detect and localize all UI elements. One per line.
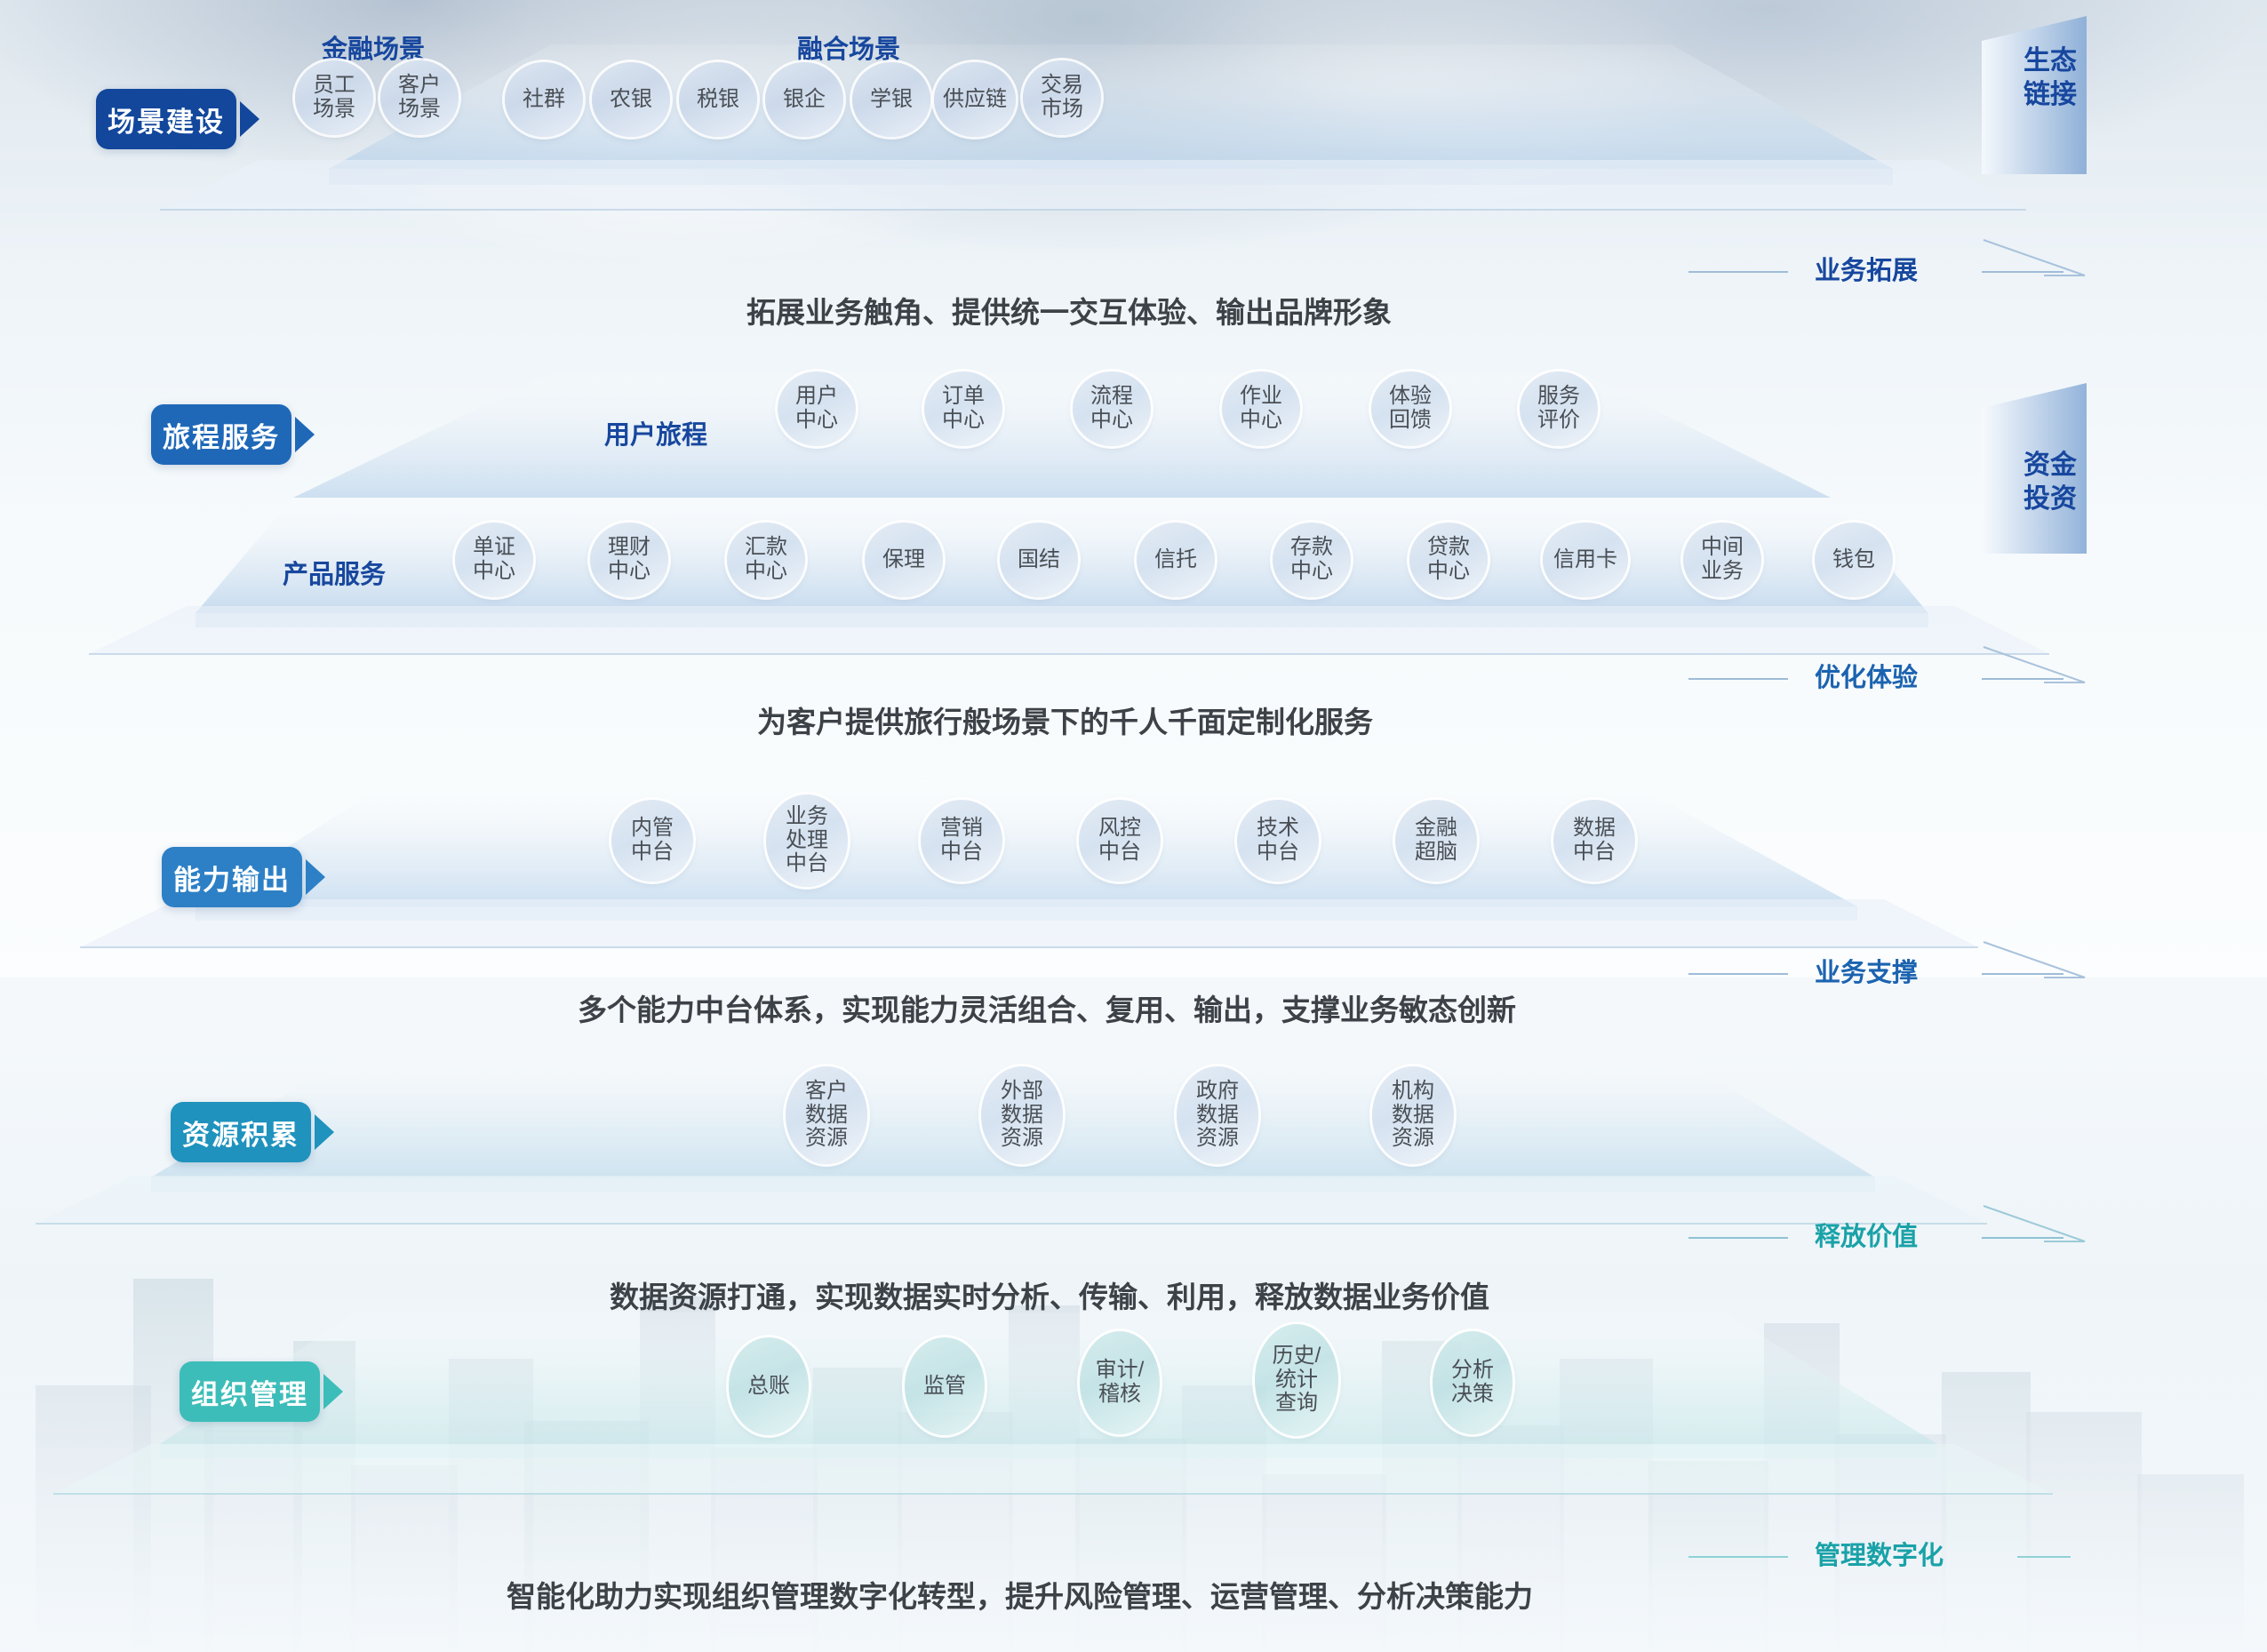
badge-label: 旅程服务 [163,415,280,455]
node-line: 服务 [1537,385,1580,409]
node-agri-bank[interactable]: 农银 [592,62,670,137]
divider-line-right-5 [2017,1556,2071,1558]
node-history-statistics-query[interactable]: 历史/ 统计 查询 [1255,1324,1338,1436]
node-process-center[interactable]: 流程 中心 [1073,371,1151,446]
node-service-evaluation[interactable]: 服务 评价 [1520,371,1598,446]
divider-arrow-icon-4 [1982,1204,2097,1254]
node-line: 处理 [786,829,828,853]
node-line: 营销 [940,817,983,841]
node-financial-brain[interactable]: 金融 超脑 [1395,800,1477,882]
caption-organization-management: 智能化助力实现组织管理数字化转型，提升风险管理、运营管理、分析决策能力 [507,1573,1533,1616]
node-line: 中心 [1090,409,1133,433]
node-risk-control-midend[interactable]: 风控 中台 [1079,800,1161,882]
divider-label-optimize-experience: 优化体验 [1815,657,1918,694]
badge-label: 组织管理 [191,1372,308,1412]
node-line: 审计/ [1096,1359,1145,1383]
node-supervision[interactable]: 监管 [905,1337,985,1435]
divider-label-release-value: 释放价值 [1815,1216,1918,1253]
node-line: 中台 [940,841,983,865]
divider-line-left-3 [1688,973,1788,975]
badge-arrow-icon [323,1374,343,1409]
badge-scene-construction[interactable]: 场景建设 [96,89,236,149]
node-line: 资源 [1196,1127,1239,1151]
badge-arrow-icon [315,1114,334,1150]
node-trading-market[interactable]: 交易 市场 [1023,60,1101,135]
node-line: 信托 [1154,548,1197,572]
node-external-data-resource[interactable]: 外部 数据 资源 [981,1066,1063,1164]
node-line: 中心 [1427,560,1470,584]
pyramid-band-5 [0,1293,2151,1560]
badge-organization-management[interactable]: 组织管理 [180,1361,320,1422]
divider-label-business-expansion: 业务拓展 [1815,250,1918,287]
node-line: 中心 [1290,560,1333,584]
divider-line-left-2 [1688,678,1788,680]
node-line: 用户 [795,385,838,409]
node-deposit-center[interactable]: 存款 中心 [1273,523,1351,597]
caption-capability-output: 多个能力中台体系，实现能力灵活组合、复用、输出，支撑业务敏态创新 [578,986,1516,1029]
node-line: 银企 [783,88,826,112]
node-line: 风控 [1098,817,1141,841]
node-remittance-center[interactable]: 汇款 中心 [727,523,805,597]
node-line: 作业 [1240,385,1282,409]
node-line: 回馈 [1389,409,1432,433]
node-line: 超脑 [1415,841,1457,865]
node-line: 评价 [1537,409,1580,433]
node-line: 场景 [313,98,355,122]
divider-arrow-icon-3 [1982,940,2097,990]
node-line: 统计 [1275,1369,1318,1393]
ribbon-line: 投资 [2001,483,2099,516]
node-business-process-midend[interactable]: 业务 处理 中台 [766,794,848,887]
node-internal-mgmt-midend[interactable]: 内管 中台 [611,800,693,882]
node-line: 中心 [473,560,515,584]
node-line: 数据 [1392,1104,1434,1128]
badge-arrow-icon [240,101,259,137]
divider-line-left-1 [1688,271,1788,273]
node-tax-bank[interactable]: 税银 [679,62,757,137]
node-general-ledger[interactable]: 总账 [729,1337,809,1435]
divider-arrow-icon-2 [1982,645,2097,695]
node-line: 中台 [1257,841,1299,865]
node-government-data-resource[interactable]: 政府 数据 资源 [1177,1066,1258,1164]
node-line: 稽核 [1098,1383,1141,1407]
node-line: 汇款 [745,536,787,560]
node-operation-center[interactable]: 作业 中心 [1222,371,1300,446]
node-line: 单证 [473,536,515,560]
node-line: 员工 [313,74,355,98]
node-line: 农银 [610,88,652,112]
node-intermediary-business[interactable]: 中间 业务 [1683,523,1761,597]
node-line: 数据 [805,1104,848,1128]
caption-journey-service: 为客户提供旅行般场景下的千人千面定制化服务 [757,698,1373,741]
node-line: 业务 [1701,560,1744,584]
node-technology-midend[interactable]: 技术 中台 [1237,800,1319,882]
node-wallet[interactable]: 钱包 [1815,523,1893,597]
node-line: 数据 [1573,817,1616,841]
node-customer-scene[interactable]: 客户 场景 [380,60,459,135]
node-line: 金融 [1415,817,1457,841]
node-line: 中台 [1098,841,1141,865]
node-international-settlement[interactable]: 国结 [1000,523,1078,597]
node-line: 客户 [398,74,441,98]
badge-label: 能力输出 [173,858,291,898]
node-line: 外部 [1001,1080,1043,1104]
badge-arrow-icon [306,859,325,895]
node-loan-center[interactable]: 贷款 中心 [1409,523,1488,597]
ribbon-line: 生态 [2001,44,2099,78]
node-institution-data-resource[interactable]: 机构 数据 资源 [1372,1066,1454,1164]
node-line: 机构 [1392,1080,1434,1104]
badge-label: 资源积累 [182,1113,299,1153]
node-experience-feedback[interactable]: 体验 回馈 [1371,371,1449,446]
node-trust[interactable]: 信托 [1137,523,1215,597]
node-line: 流程 [1090,385,1133,409]
badge-journey-service[interactable]: 旅程服务 [151,404,291,465]
divider-line-left-4 [1688,1237,1788,1239]
node-line: 市场 [1041,98,1083,122]
node-line: 中间 [1701,536,1744,560]
divider-line-left-5 [1688,1556,1788,1558]
node-line: 钱包 [1832,548,1875,572]
pyramid-band-4 [18,1035,2115,1293]
node-line: 资源 [805,1127,848,1151]
node-line: 历史/ [1273,1345,1321,1369]
node-line: 中心 [745,560,787,584]
node-line: 贷款 [1427,536,1470,560]
node-line: 中台 [1573,841,1616,865]
node-line: 总账 [747,1375,790,1399]
badge-arrow-icon [295,417,315,452]
node-line: 数据 [1001,1104,1043,1128]
node-line: 决策 [1451,1383,1494,1407]
node-line: 信用卡 [1553,548,1617,572]
divider-label-business-support: 业务支撑 [1815,952,1918,989]
node-line: 国结 [1018,548,1060,572]
node-line: 中心 [795,409,838,433]
node-customer-data-resource[interactable]: 客户 数据 资源 [786,1066,867,1164]
node-line: 数据 [1196,1104,1239,1128]
node-line: 存款 [1290,536,1333,560]
node-supply-chain[interactable]: 供应链 [934,62,1016,137]
node-line: 查询 [1275,1392,1318,1416]
node-line: 理财 [608,536,651,560]
ribbon-line: 资金 [2001,449,2099,483]
node-line: 供应链 [943,88,1007,112]
node-line: 资源 [1001,1127,1043,1151]
node-line: 技术 [1257,817,1299,841]
node-line: 学银 [870,88,913,112]
node-line: 监管 [923,1375,966,1399]
node-order-center[interactable]: 订单 中心 [924,371,1002,446]
node-wealth-center[interactable]: 理财 中心 [590,523,668,597]
node-line: 体验 [1389,385,1432,409]
node-document-center[interactable]: 单证 中心 [455,523,533,597]
divider-label-management-digitization: 管理数字化 [1815,1535,1944,1572]
node-line: 中心 [608,560,651,584]
group-label-user-journey: 用户旅程 [604,414,707,451]
node-audit-inspection[interactable]: 审计/ 稽核 [1080,1331,1160,1434]
node-employee-scene[interactable]: 员工 场景 [295,60,373,135]
ribbon-label-ecosystem-link: 生态 链接 [2001,44,2099,111]
badge-label: 场景建设 [108,100,225,140]
node-factoring[interactable]: 保理 [865,523,943,597]
node-line: 场景 [398,98,441,122]
node-line: 分析 [1451,1359,1494,1383]
badge-resource-accumulation[interactable]: 资源积累 [171,1102,311,1162]
node-line: 订单 [942,385,985,409]
node-line: 中台 [786,852,828,876]
node-marketing-midend[interactable]: 营销 中台 [921,800,1002,882]
group-label-fusion-scene: 融合场景 [797,28,900,66]
pyramid-band-3 [53,764,2097,1013]
node-community[interactable]: 社群 [505,62,583,137]
node-line: 中心 [1240,409,1282,433]
node-credit-card[interactable]: 信用卡 [1543,523,1628,597]
ribbon-label-capital-investment: 资金 投资 [2001,449,2099,515]
node-line: 保理 [882,548,925,572]
node-line: 社群 [523,88,565,112]
node-line: 资源 [1392,1127,1434,1151]
node-line: 中心 [942,409,985,433]
divider-arrow-icon-1 [1982,238,2097,288]
node-line: 客户 [805,1080,848,1104]
node-line: 中台 [631,841,674,865]
node-school-bank[interactable]: 学银 [852,62,930,137]
node-line: 业务 [786,805,828,829]
node-data-midend[interactable]: 数据 中台 [1553,800,1635,882]
ribbon-line: 链接 [2001,78,2099,112]
node-line: 政府 [1196,1080,1239,1104]
node-bank-enterprise[interactable]: 银企 [765,62,843,137]
node-analysis-decision[interactable]: 分析 决策 [1433,1331,1513,1434]
group-label-product-service: 产品服务 [283,554,386,591]
node-line: 税银 [697,88,739,112]
badge-capability-output[interactable]: 能力输出 [162,847,302,907]
caption-scene-construction: 拓展业务触角、提供统一交互体验、输出品牌形象 [746,289,1392,331]
node-user-center[interactable]: 用户 中心 [778,371,856,446]
node-line: 内管 [631,817,674,841]
node-line: 交易 [1041,74,1083,98]
